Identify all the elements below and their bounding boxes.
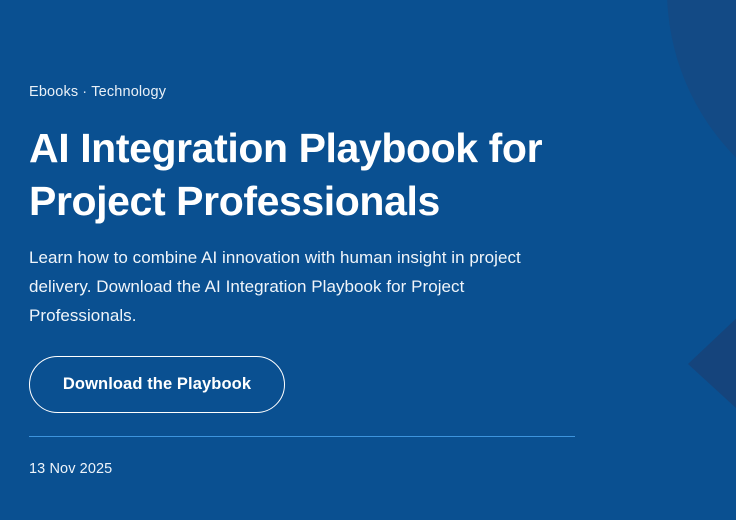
breadcrumb-item-technology[interactable]: Technology — [91, 84, 166, 100]
circle-arc-shape — [667, 0, 736, 228]
page-title: AI Integration Playbook for Project Prof… — [29, 122, 569, 228]
chevron-shape — [688, 296, 736, 430]
hero-summary: Learn how to combine AI innovation with … — [29, 243, 574, 330]
breadcrumb-item-ebooks[interactable]: Ebooks — [29, 84, 78, 100]
publish-date: 13 Nov 2025 — [29, 459, 112, 479]
ebook-hero-banner: Ebooks·Technology AI Integration Playboo… — [0, 0, 736, 520]
download-playbook-button[interactable]: Download the Playbook — [29, 356, 285, 413]
breadcrumb-separator: · — [78, 84, 91, 100]
breadcrumb: Ebooks·Technology — [29, 82, 166, 102]
hero-content: Ebooks·Technology AI Integration Playboo… — [29, 0, 589, 520]
content-divider — [29, 436, 575, 437]
